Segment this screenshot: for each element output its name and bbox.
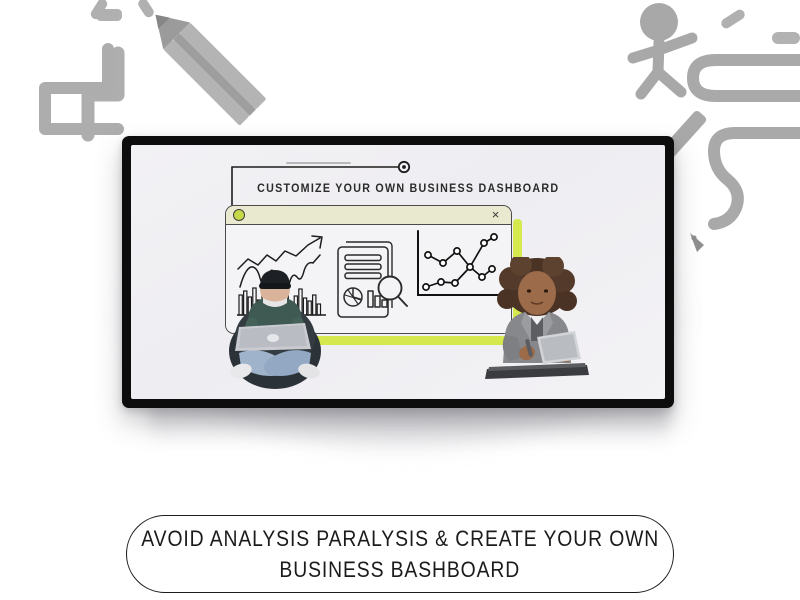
caption-line-2: BUSINESS BASHBOARD <box>280 554 521 585</box>
serpentine-path-doodle <box>693 60 800 224</box>
close-icon[interactable]: × <box>489 208 502 221</box>
window-status-dot[interactable] <box>233 209 245 221</box>
caption-pill: AVOID ANALYSIS PARALYSIS & CREATE YOUR O… <box>126 515 674 593</box>
monitor-shadow <box>150 404 670 446</box>
window-titlebar[interactable]: × <box>226 206 511 225</box>
report-document-illustration <box>334 239 410 325</box>
zigzag-doodle <box>88 53 118 135</box>
running-person-doodle <box>633 3 692 94</box>
dash-marks-doodle <box>772 32 800 44</box>
screen-headline: CUSTOMIZE YOUR OWN BUSINESS DASHBOARD <box>150 183 647 195</box>
caption-line-1: AVOID ANALYSIS PARALYSIS & CREATE YOUR O… <box>141 523 659 554</box>
display-monitor: CUSTOMIZE YOUR OWN BUSINESS DASHBOARD × <box>122 136 674 408</box>
dash-marks-doodle <box>719 8 746 31</box>
dash-marks-doodle <box>89 0 156 21</box>
monitor-screen: CUSTOMIZE YOUR OWN BUSINESS DASHBOARD × <box>131 145 665 399</box>
faint-rule-decoration <box>286 162 351 164</box>
slide-canvas: CUSTOMIZE YOUR OWN BUSINESS DASHBOARD × <box>0 0 800 600</box>
person-with-tablet <box>481 257 593 381</box>
person-with-laptop <box>219 267 327 393</box>
squared-spiral-doodle <box>45 49 118 129</box>
pencil-doodle <box>142 1 266 125</box>
pen-tip-dot <box>691 235 696 240</box>
